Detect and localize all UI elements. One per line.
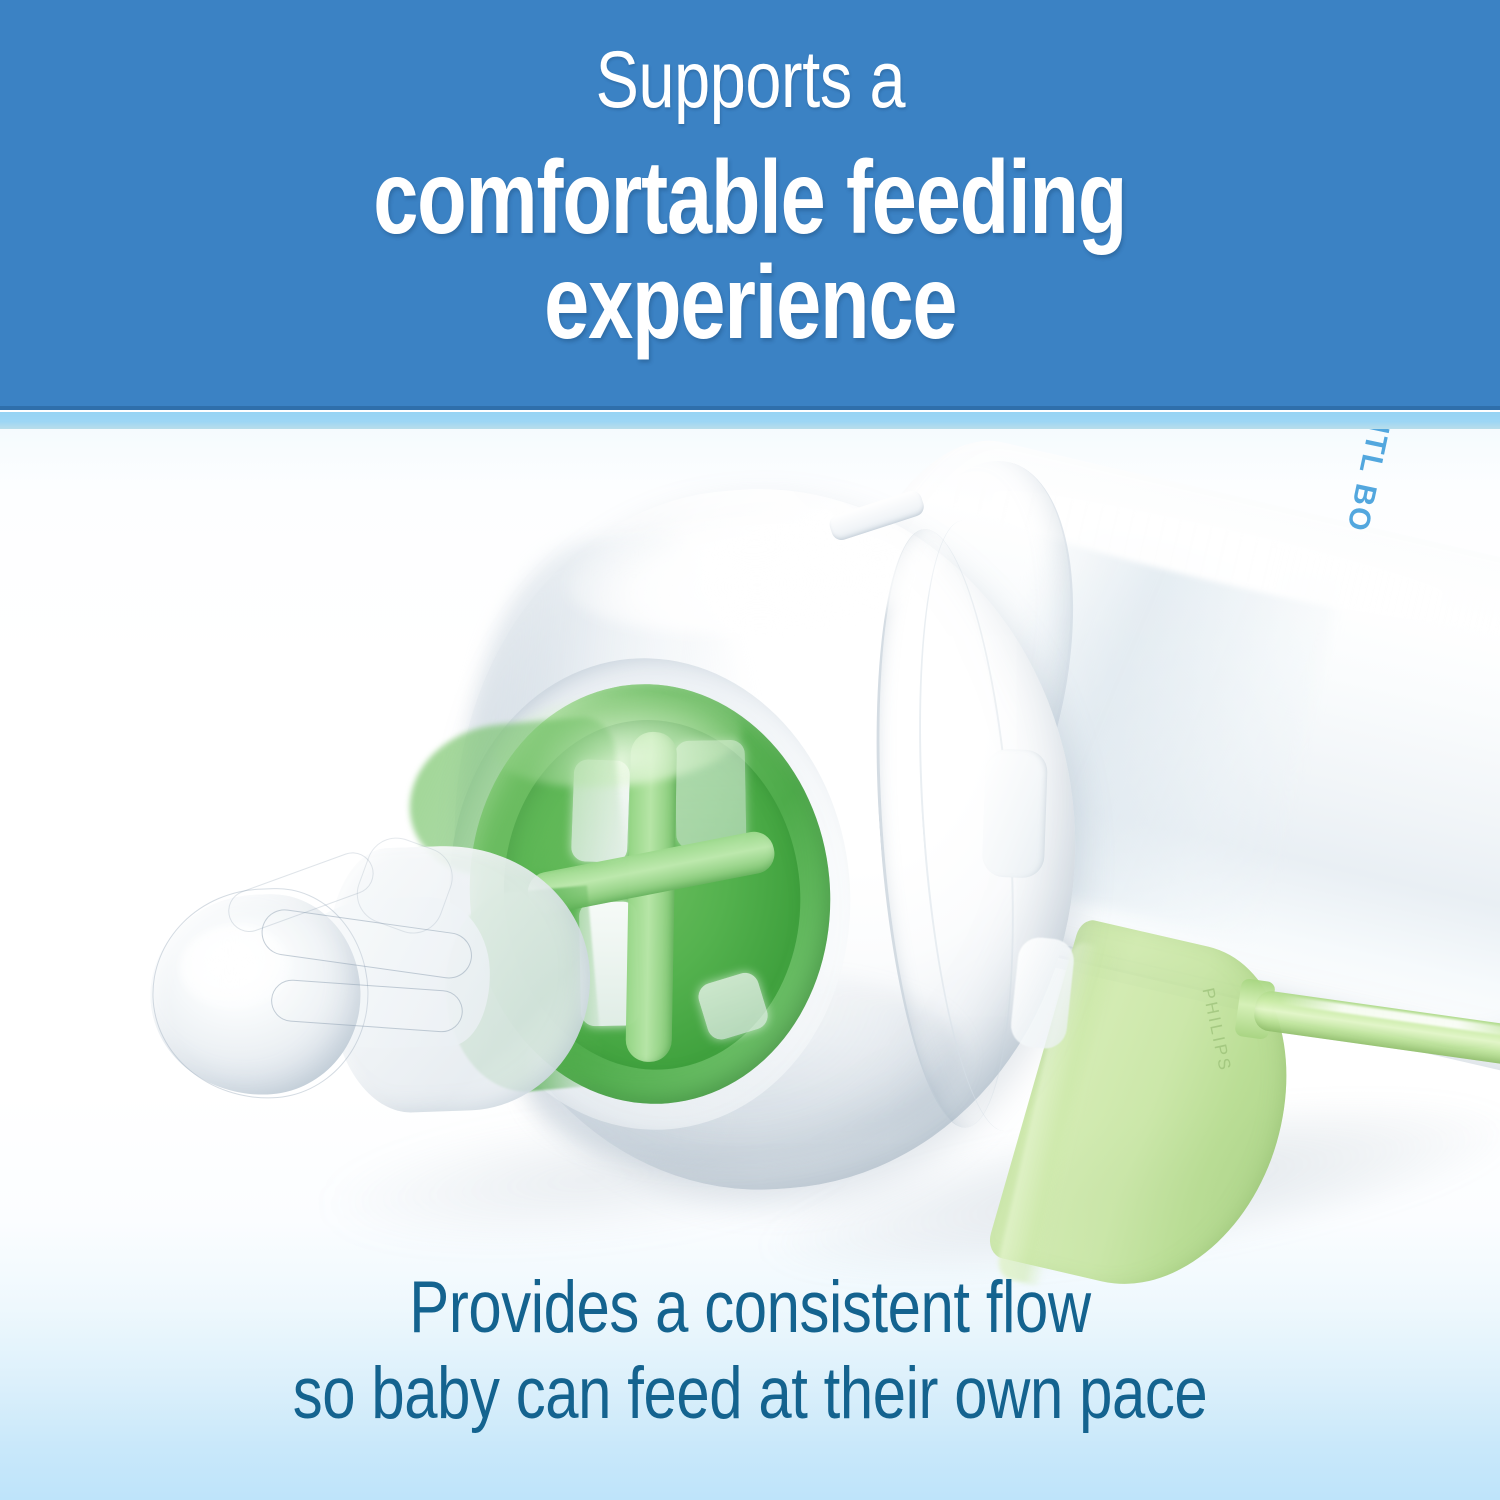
- bottom-caption: Provides a consistent flow so baby can f…: [0, 1265, 1500, 1437]
- headline-line-3: experience: [544, 248, 956, 359]
- bottle-brand-text: NTL BO: [1339, 429, 1398, 535]
- light-blue-divider-stripe: [0, 412, 1500, 429]
- product-feature-panel: Supports a comfortable feeding experienc…: [0, 0, 1500, 1500]
- headline-line-2: comfortable feeding: [373, 143, 1126, 254]
- header-banner: Supports a comfortable feeding experienc…: [0, 0, 1500, 410]
- collar-grip-tab-lower: [1009, 935, 1076, 1050]
- silicone-nipple: [145, 822, 585, 1137]
- caption-line-1: Provides a consistent flow: [135, 1265, 1365, 1351]
- caption-line-2: so baby can feed at their own pace: [135, 1351, 1365, 1437]
- headline-line-1: Supports a: [595, 40, 904, 121]
- collar-grip-tab-side: [982, 748, 1048, 878]
